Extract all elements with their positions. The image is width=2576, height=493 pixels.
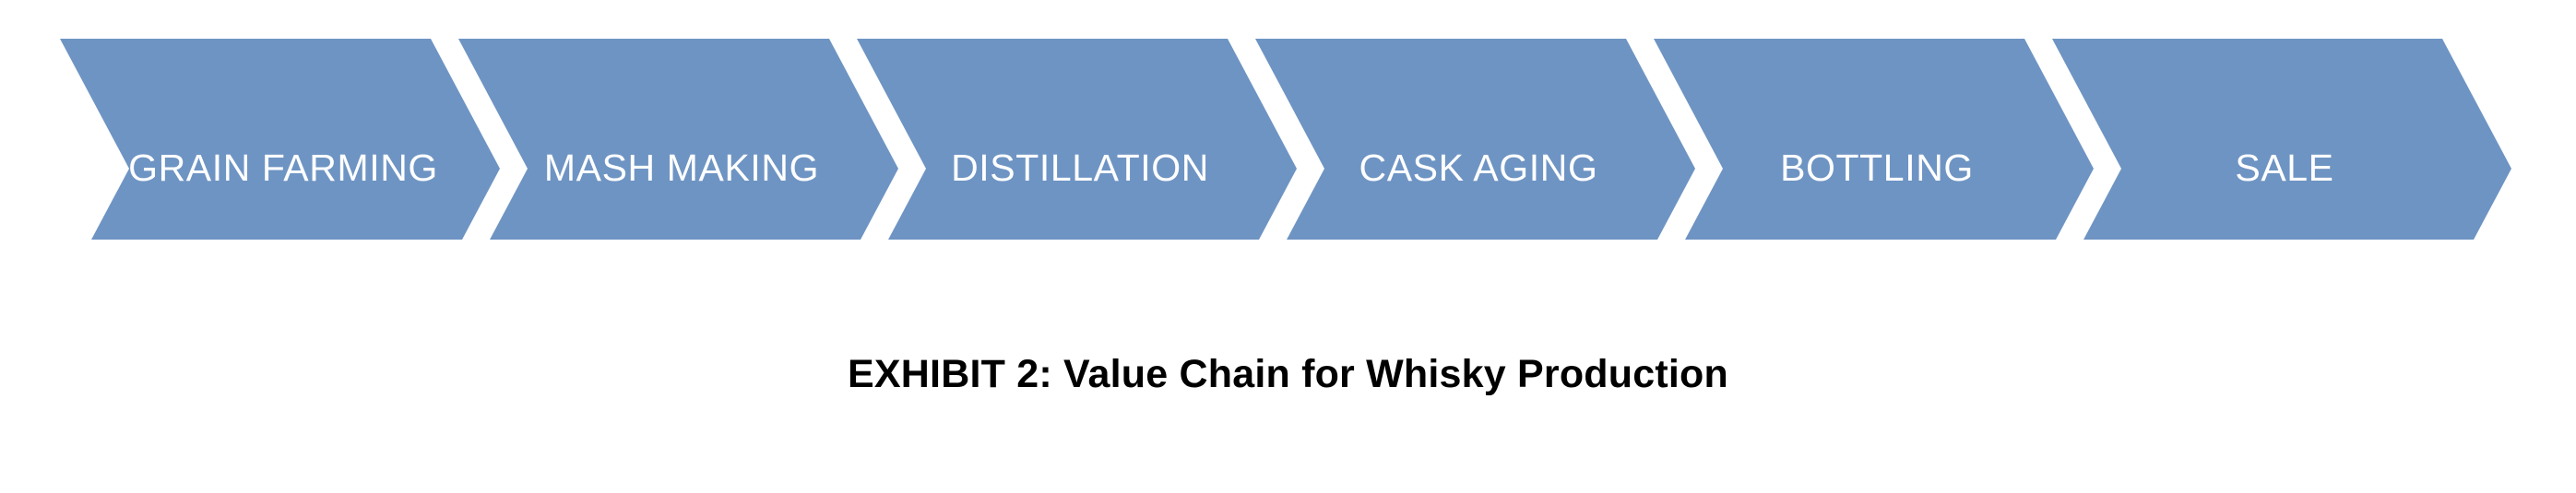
exhibit-caption: EXHIBIT 2: Value Chain for Whisky Produc… bbox=[0, 352, 2576, 397]
chevron-step-2-label: MASH MAKING bbox=[544, 147, 819, 189]
chevron-shape-3 bbox=[857, 39, 1297, 240]
chevron-step-1[interactable]: GRAIN FARMING bbox=[60, 39, 500, 240]
chevron-shape-1 bbox=[60, 39, 500, 240]
chevron-step-2[interactable]: MASH MAKING bbox=[458, 39, 898, 240]
chevron-step-4[interactable]: CASK AGING bbox=[1255, 39, 1695, 240]
chevron-step-3-label: DISTILLATION bbox=[951, 147, 1209, 189]
chevron-step-5-label: BOTTLING bbox=[1780, 147, 1974, 189]
chevron-step-6[interactable]: SALE bbox=[2052, 39, 2511, 240]
chevron-shape-6 bbox=[2052, 39, 2511, 240]
chevron-shape-5 bbox=[1654, 39, 2094, 240]
chevron-step-1-label: GRAIN FARMING bbox=[128, 147, 438, 189]
value-chain-diagram: GRAIN FARMING MASH MAKING DISTILLATION C… bbox=[0, 0, 2576, 240]
chevron-step-3[interactable]: DISTILLATION bbox=[857, 39, 1297, 240]
exhibit-canvas: GRAIN FARMING MASH MAKING DISTILLATION C… bbox=[0, 0, 2576, 493]
chevron-shape-4 bbox=[1255, 39, 1695, 240]
chevron-step-4-label: CASK AGING bbox=[1359, 147, 1598, 189]
chevron-shape-2 bbox=[458, 39, 898, 240]
chevron-step-6-label: SALE bbox=[2235, 147, 2333, 189]
chevron-step-5[interactable]: BOTTLING bbox=[1654, 39, 2094, 240]
